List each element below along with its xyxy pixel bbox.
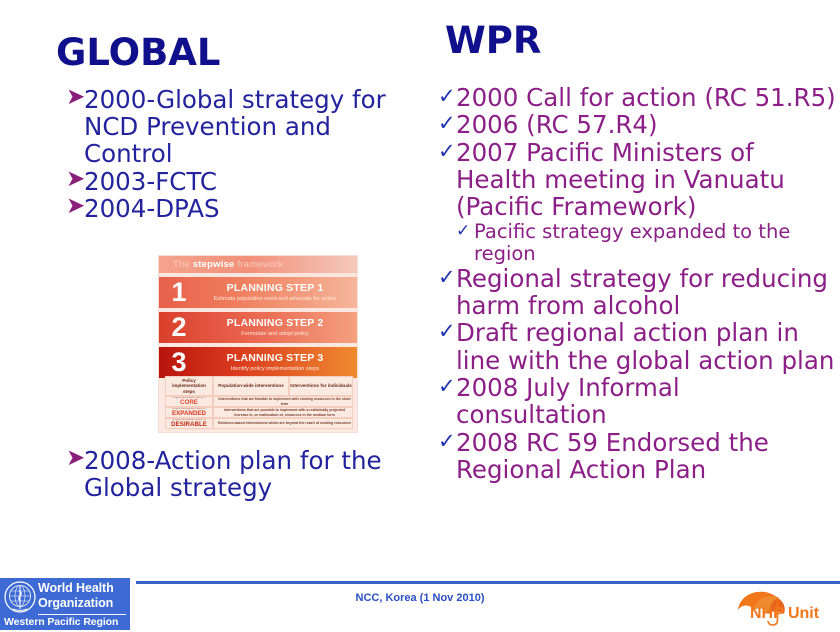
list-item-text: 2000 Call for action (RC 51.R5)	[456, 83, 836, 112]
arrow-bullet-icon: ➤	[66, 167, 85, 192]
step-number: 2	[159, 314, 199, 341]
header-text: Population-wide interventions	[218, 383, 284, 388]
table-header-cell: Interventions for individuals	[289, 376, 353, 396]
list-item-text: 2008 July Informal consultation	[456, 373, 680, 429]
step-title: PLANNING STEP 2	[199, 318, 351, 330]
table-row-label: Implementation step 1 CORE	[165, 396, 213, 407]
step-number: 1	[159, 279, 199, 306]
nhp-unit-label: NHP Unit	[750, 605, 819, 623]
who-logo: World Health Organization Western Pacifi…	[0, 578, 130, 630]
who-emblem-icon	[4, 581, 36, 613]
global-column-title: GLOBAL	[56, 34, 221, 71]
who-name-block: World Health Organization	[38, 581, 114, 611]
step-title: PLANNING STEP 3	[199, 353, 351, 365]
framework-step-2: 2 PLANNING STEP 2 Formulate and adopt po…	[159, 312, 357, 343]
list-item: ➤ 2000-Global strategy for NCD Preventio…	[66, 86, 418, 168]
list-item-text: Regional strategy for reducing harm from…	[456, 264, 828, 320]
step-text-block: PLANNING STEP 1 Estimate population need…	[199, 283, 357, 302]
list-item: ➤ 2003-FCTC	[66, 168, 418, 195]
list-item-text: 2006 (RC 57.R4)	[456, 110, 658, 139]
check-icon: ✓	[438, 265, 456, 289]
table-row-description: Interventions that are possible to imple…	[213, 407, 353, 418]
list-item-text: 2000-Global strategy for NCD Prevention …	[84, 85, 386, 168]
step-subtitle: Estimate population need and advocate fo…	[199, 296, 351, 302]
row-label-core: Implementation step 1 CORE	[172, 396, 205, 407]
row-description-text: Interventions that are feasible to imple…	[217, 397, 352, 405]
framework-header-prefix: The	[173, 259, 193, 270]
list-item-text: 2007 Pacific Ministers of Health meeting…	[456, 138, 785, 222]
global-bullet-list-lower: ➤ 2008-Action plan for the Global strate…	[66, 447, 418, 501]
check-icon: ✓	[438, 139, 456, 163]
list-item: ✓ Draft regional action plan in line wit…	[438, 319, 836, 374]
check-icon: ✓	[456, 222, 470, 242]
list-item: ✓ 2007 Pacific Ministers of Health meeti…	[438, 139, 836, 221]
who-line-2: Organization	[38, 596, 114, 611]
header-text: Interventions for individuals	[290, 383, 352, 388]
list-item-text: 2008-Action plan for the Global strategy	[84, 446, 382, 502]
list-item: ✓ Regional strategy for reducing harm fr…	[438, 265, 836, 320]
row-label-desirable: Implementation step 3 DESIRABLE	[171, 418, 207, 429]
check-icon: ✓	[438, 84, 456, 108]
wpr-column-title: WPR	[445, 22, 541, 59]
table-header-cell: Policy implementation steps	[165, 376, 213, 396]
check-icon: ✓	[438, 429, 456, 453]
check-icon: ✓	[438, 111, 456, 135]
row-description-text: Evidence-based interventions which are b…	[218, 421, 351, 425]
row-description-text: Interventions that are possible to imple…	[217, 408, 352, 416]
nhp-unit-logo: NHP Unit	[730, 584, 838, 628]
who-line-1: World Health	[38, 581, 114, 596]
list-item: ✓ 2000 Call for action (RC 51.R5)	[438, 84, 836, 111]
table-row-label: Implementation step 3 DESIRABLE	[165, 418, 213, 429]
step-title: PLANNING STEP 1	[199, 283, 351, 295]
footer-center-text: NCC, Korea (1 Nov 2010)	[250, 592, 590, 604]
arrow-bullet-icon: ➤	[66, 85, 85, 110]
step-text-block: PLANNING STEP 2 Formulate and adopt poli…	[199, 318, 357, 337]
list-item-text: 2003-FCTC	[84, 167, 217, 196]
step-subtitle: Identify policy implementation steps	[199, 366, 351, 372]
who-underline-rule	[38, 614, 126, 615]
wpr-bullet-list: ✓ 2000 Call for action (RC 51.R5) ✓ 2006…	[438, 84, 836, 483]
check-icon: ✓	[438, 319, 456, 343]
list-item: ✓ 2008 RC 59 Endorsed the Regional Actio…	[438, 429, 836, 484]
row-label-text: DESIRABLE	[171, 421, 207, 428]
step-subtitle: Formulate and adopt policy	[199, 331, 351, 337]
framework-header-suffix: framework	[235, 259, 284, 270]
framework-header-strong: stepwise	[193, 259, 235, 270]
global-bullet-list: ➤ 2000-Global strategy for NCD Preventio…	[66, 86, 418, 222]
framework-matrix-table: Policy implementation steps Population-w…	[165, 376, 353, 430]
table-row-label: Implementation step 2 EXPANDED	[165, 407, 213, 418]
row-label-text: CORE	[180, 399, 198, 406]
row-label-text: EXPANDED	[172, 410, 206, 417]
list-item-text: Draft regional action plan in line with …	[456, 318, 834, 374]
list-item-text: 2008 RC 59 Endorsed the Regional Action …	[456, 428, 769, 484]
check-icon: ✓	[438, 374, 456, 398]
step-number: 3	[159, 349, 199, 376]
step-text-block: PLANNING STEP 3 Identify policy implemen…	[199, 353, 357, 372]
header-text: Policy implementation steps	[166, 378, 212, 394]
framework-step-3: 3 PLANNING STEP 3 Identify policy implem…	[159, 347, 357, 378]
arrow-bullet-icon: ➤	[66, 194, 85, 219]
framework-step-1: 1 PLANNING STEP 1 Estimate population ne…	[159, 277, 357, 308]
list-item: ✓ 2006 (RC 57.R4)	[438, 111, 836, 138]
list-item-text: 2004-DPAS	[84, 194, 220, 223]
list-item: ✓ 2008 July Informal consultation	[438, 374, 836, 429]
slide-footer: World Health Organization Western Pacifi…	[0, 578, 840, 630]
list-item: ➤ 2004-DPAS	[66, 195, 418, 222]
table-row-description: Interventions that are feasible to imple…	[213, 396, 353, 407]
slide-canvas: GLOBAL ➤ 2000-Global strategy for NCD Pr…	[0, 0, 840, 630]
framework-header: The stepwise framework	[159, 256, 357, 273]
stepwise-framework-image: The stepwise framework 1 PLANNING STEP 1…	[158, 255, 358, 433]
table-row-description: Evidence-based interventions which are b…	[213, 418, 353, 429]
table-group-header-cell: Population-wide interventions	[213, 376, 289, 396]
arrow-bullet-icon: ➤	[66, 446, 85, 471]
list-item-text: Pacific strategy expanded to the region	[474, 220, 790, 265]
list-item-sub: ✓ Pacific strategy expanded to the regio…	[438, 221, 836, 265]
row-label-expanded: Implementation step 2 EXPANDED	[172, 407, 206, 418]
list-item: ➤ 2008-Action plan for the Global strate…	[66, 447, 418, 501]
who-region-label: Western Pacific Region	[4, 616, 118, 628]
